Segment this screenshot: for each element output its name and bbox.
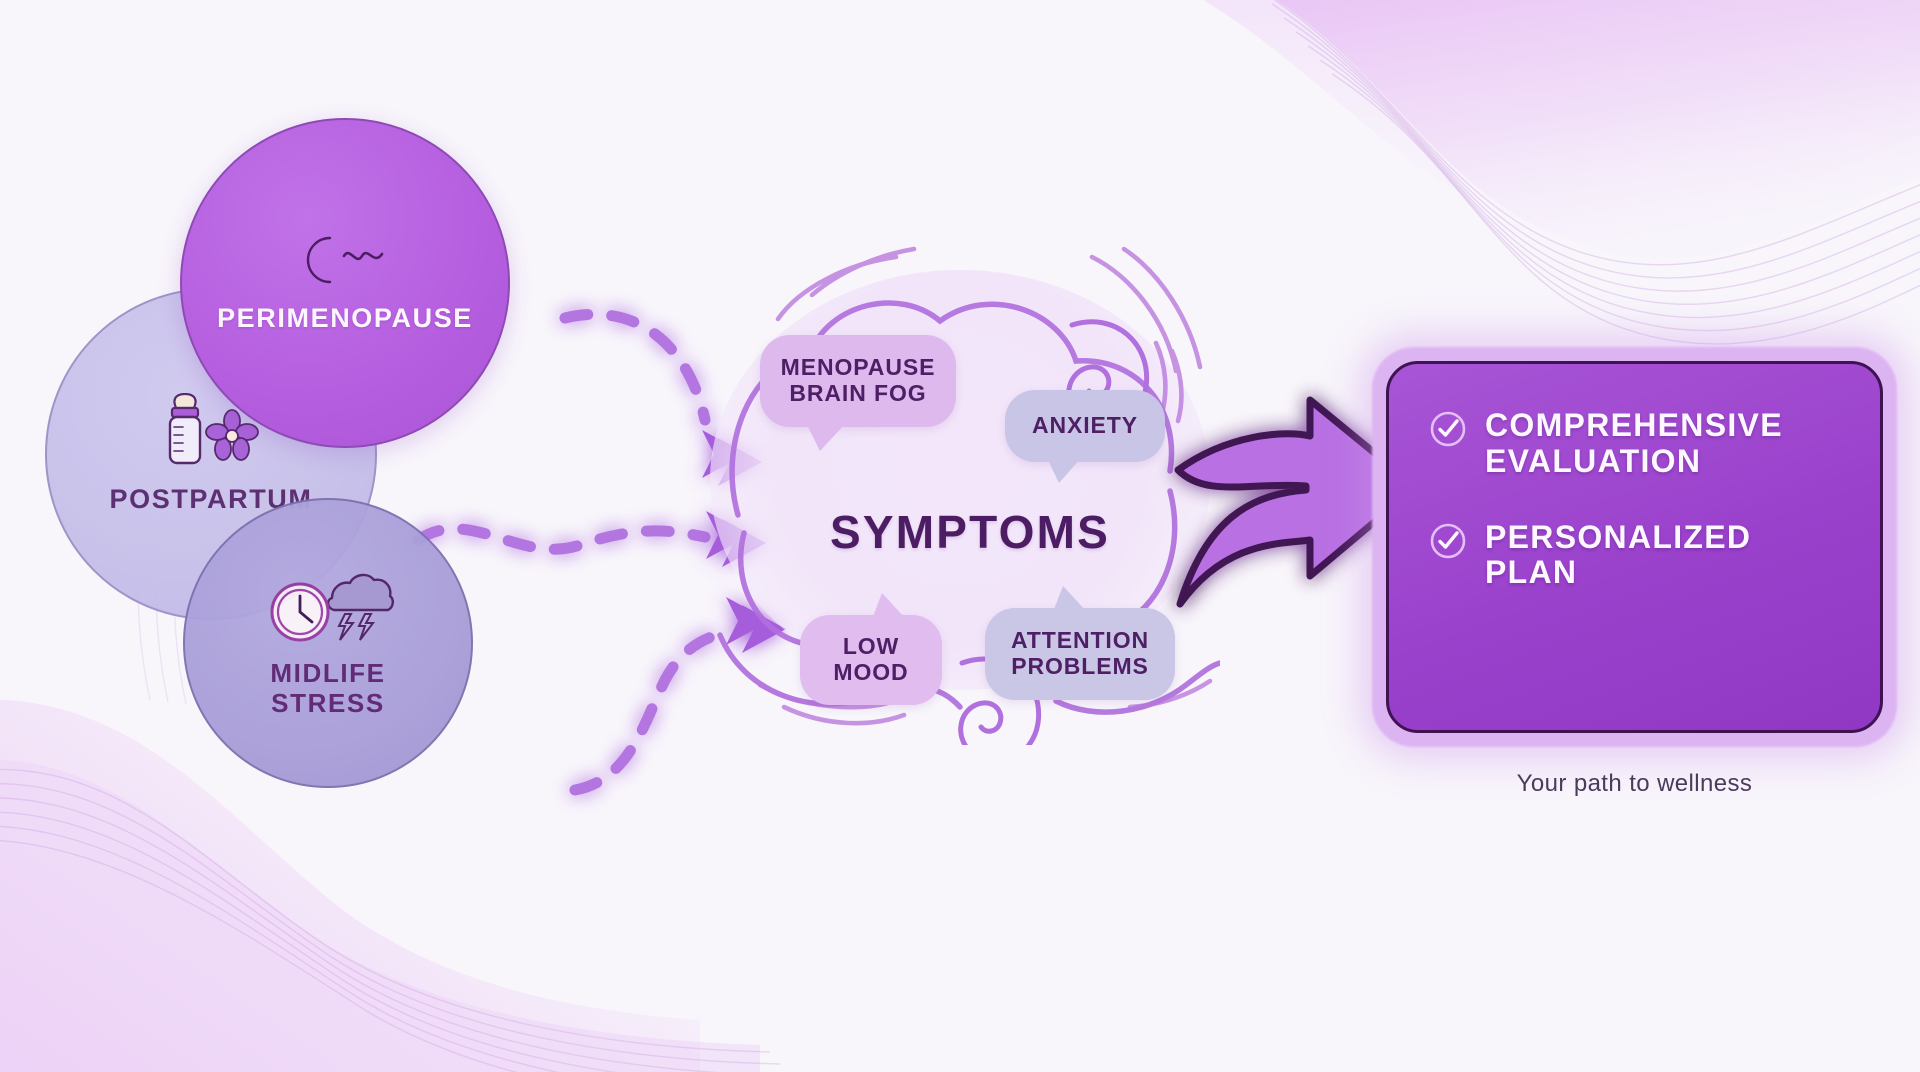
result-card[interactable]: COMPREHENSIVE EVALUATION PERSONALIZED PL… xyxy=(1386,361,1883,733)
symptom-bubble-brain-fog[interactable]: MENOPAUSE BRAIN FOG xyxy=(760,335,956,427)
speech-tail-icon xyxy=(1047,458,1081,483)
symptom-bubble-low-mood[interactable]: LOW MOOD xyxy=(800,615,942,705)
symptom-bubble-label: ANXIETY xyxy=(1032,413,1138,439)
result-item-personalized-plan[interactable]: PERSONALIZED PLAN xyxy=(1429,520,1850,592)
infographic-canvas: PERIMENOPAUSE xyxy=(0,0,1920,1072)
check-circle-icon xyxy=(1429,522,1467,560)
speech-tail-icon xyxy=(1053,586,1087,612)
result-item-comprehensive-evaluation[interactable]: COMPREHENSIVE EVALUATION xyxy=(1429,408,1850,480)
wellness-caption: Your path to wellness xyxy=(1372,770,1897,798)
result-card-container[interactable]: COMPREHENSIVE EVALUATION PERSONALIZED PL… xyxy=(1372,347,1897,747)
symptom-bubble-anxiety[interactable]: ANXIETY xyxy=(1005,390,1165,462)
result-item-label: COMPREHENSIVE EVALUATION xyxy=(1485,408,1783,480)
symptom-bubble-label: ATTENTION PROBLEMS xyxy=(1011,628,1149,680)
symptom-bubble-label: MENOPAUSE BRAIN FOG xyxy=(781,355,936,407)
check-circle-icon xyxy=(1429,410,1467,448)
result-item-label: PERSONALIZED PLAN xyxy=(1485,520,1751,592)
symptom-bubble-attention-problems[interactable]: ATTENTION PROBLEMS xyxy=(985,608,1175,700)
speech-tail-icon xyxy=(806,423,846,451)
symptoms-heading: SYMPTOMS xyxy=(830,505,1110,559)
symptom-bubble-label: LOW MOOD xyxy=(833,634,908,686)
speech-tail-icon xyxy=(872,593,906,619)
